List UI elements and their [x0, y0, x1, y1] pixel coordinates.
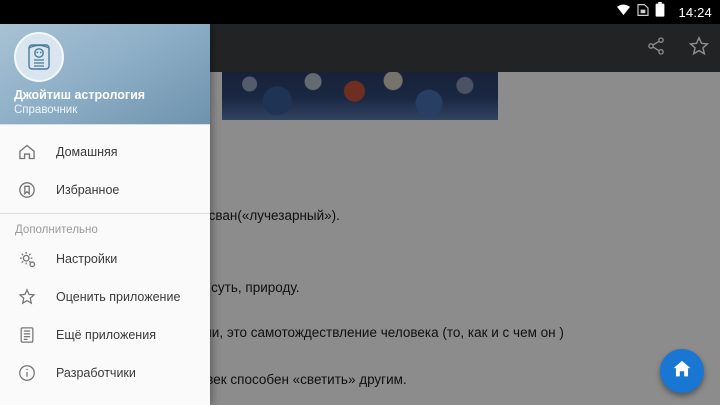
drawer-title: Джойтиш астрология [14, 88, 196, 103]
gear-icon [15, 249, 39, 270]
app-logo-icon [14, 32, 64, 82]
drawer-item-label: Оценить приложение [56, 290, 180, 304]
battery-icon [655, 2, 665, 22]
drawer-item-label: Разработчики [56, 366, 136, 380]
status-bar-clock: 14:24 [678, 5, 712, 20]
drawer-item-more-apps[interactable]: Ещё приложения [0, 316, 210, 354]
wifi-icon [616, 3, 631, 21]
drawer-item-label: Ещё приложения [56, 328, 156, 342]
navigation-drawer: Джойтиш астрология Справочник Домашняя И… [0, 24, 210, 405]
screen: глав книги «Величие Сатурна». нный из ме… [0, 0, 720, 405]
drawer-item-label: Домашняя [56, 145, 118, 159]
drawer-item-rate-app[interactable]: Оценить приложение [0, 278, 210, 316]
drawer-item-home[interactable]: Домашняя [0, 133, 210, 171]
drawer-item-settings[interactable]: Настройки [0, 240, 210, 278]
home-fab-button[interactable] [660, 349, 704, 393]
drawer-section-label: Дополнительно [0, 214, 210, 240]
info-icon [15, 363, 39, 383]
drawer-item-developers[interactable]: Разработчики [0, 354, 210, 392]
drawer-item-label: Настройки [56, 252, 117, 266]
apps-list-icon [15, 325, 39, 345]
drawer-item-favorites[interactable]: Избранное [0, 171, 210, 209]
home-fab-icon [671, 358, 693, 385]
rate-star-icon [15, 287, 39, 307]
home-icon [15, 142, 39, 162]
status-bar-icons: 14:24 [616, 2, 712, 22]
bookmark-circle-icon [15, 180, 39, 200]
drawer-header: Джойтиш астрология Справочник [0, 24, 210, 124]
drawer-item-label: Избранное [56, 183, 119, 197]
drawer-subtitle: Справочник [14, 103, 196, 118]
sim-icon [637, 3, 649, 22]
status-bar: 14:24 [0, 0, 720, 24]
